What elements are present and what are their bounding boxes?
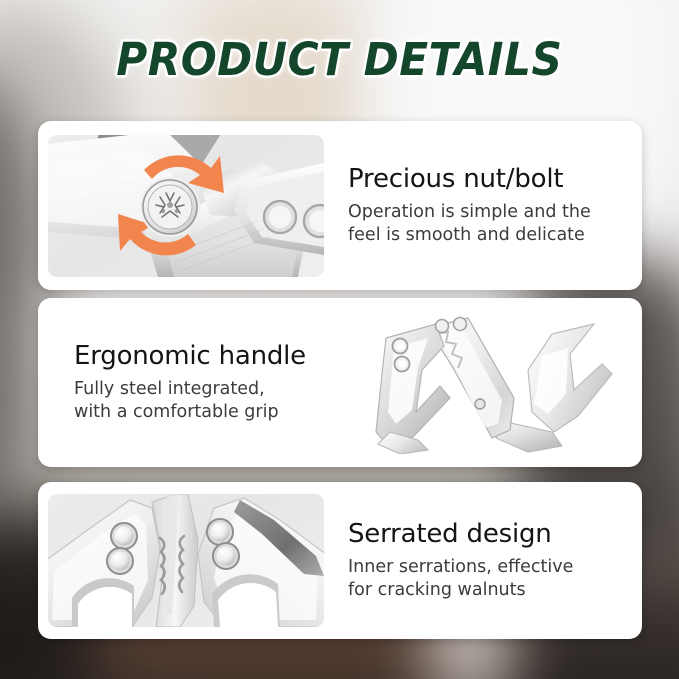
card-text-left: Ergonomic handle Fully steel integrated,…	[38, 341, 346, 424]
card-description-line: for cracking walnuts	[348, 579, 626, 602]
feature-card-ergonomic-handle: Ergonomic handle Fully steel integrated,…	[38, 298, 642, 467]
card-text-right: Serrated design Inner serrations, effect…	[334, 519, 642, 602]
card-description-line: with a comfortable grip	[74, 401, 330, 424]
card-description-line: feel is smooth and delicate	[348, 224, 626, 247]
card-heading: Ergonomic handle	[74, 341, 330, 371]
serrated-jaw-closeup-image	[48, 494, 324, 627]
feature-card-serrated-design: Serrated design Inner serrations, effect…	[38, 482, 642, 639]
card-description-line: Inner serrations, effective	[348, 556, 626, 579]
page-title-container: PRODUCT DETAILS	[0, 33, 679, 86]
card-description-line: Operation is simple and the	[348, 201, 626, 224]
page-title: PRODUCT DETAILS	[116, 33, 562, 86]
pivot-rivet-closeup-image	[48, 135, 324, 277]
card-description: Operation is simple and the feel is smoo…	[348, 201, 626, 247]
card-heading: Serrated design	[348, 519, 626, 549]
card-media-left	[38, 482, 334, 639]
card-media-right	[346, 298, 642, 467]
card-text-right: Precious nut/bolt Operation is simple an…	[334, 164, 642, 247]
card-description: Inner serrations, effective for cracking…	[348, 556, 626, 602]
feature-card-precious-nut-bolt: Precious nut/bolt Operation is simple an…	[38, 121, 642, 290]
card-description: Fully steel integrated, with a comfortab…	[74, 378, 330, 424]
card-description-line: Fully steel integrated,	[74, 378, 330, 401]
card-heading: Precious nut/bolt	[348, 164, 626, 194]
card-media-left	[38, 121, 334, 290]
full-nutcracker-tool-image	[356, 312, 632, 454]
product-details-infographic: PRODUCT DETAILS	[0, 0, 679, 679]
